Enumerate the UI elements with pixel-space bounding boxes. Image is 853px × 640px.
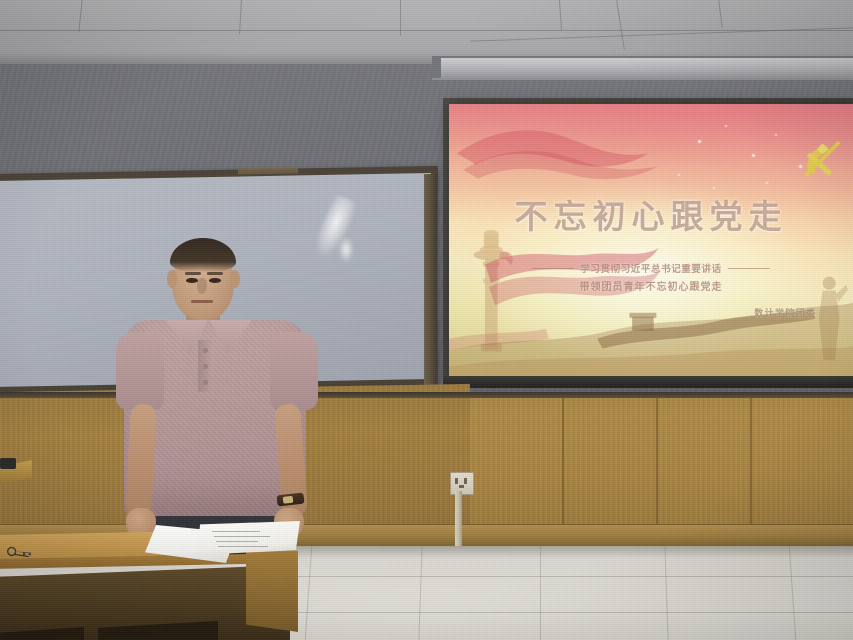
desk-side-object-dark bbox=[0, 458, 16, 469]
slide-credit: 数计学院团委 bbox=[754, 306, 816, 319]
projector-screen-housing-end bbox=[432, 56, 441, 78]
whiteboard-glare-secondary bbox=[338, 236, 354, 262]
cable-conduit bbox=[455, 491, 462, 547]
projection-screen-bottom-bar bbox=[443, 376, 853, 388]
sleeve-right bbox=[270, 332, 318, 410]
keys-icon bbox=[6, 545, 40, 559]
whiteboard-marker-tray bbox=[238, 166, 298, 174]
red-silk-ribbon-icon bbox=[457, 123, 667, 195]
projection-screen: 不忘初心跟党走 学习贯彻习近平总书记重要讲话 带领团员青年不忘初心跟党走 数计学… bbox=[449, 104, 853, 380]
presenter-person bbox=[118, 236, 318, 556]
slide-subtitle-line-1: 学习贯彻习近平总书记重要讲话 bbox=[580, 261, 721, 275]
subtitle-rule-left bbox=[532, 268, 574, 269]
subtitle-rule-right bbox=[728, 268, 770, 269]
ear-left bbox=[167, 270, 177, 288]
power-outlet-icon bbox=[450, 472, 474, 495]
podium-shelf-right bbox=[98, 621, 218, 640]
sleeve-left bbox=[116, 332, 164, 410]
nose bbox=[197, 278, 207, 294]
slide-title: 不忘初心跟党走 bbox=[449, 190, 853, 238]
slide-subtitle-line-2: 带领团员青年不忘初心跟党走 bbox=[449, 278, 853, 293]
great-wall-illustration bbox=[449, 281, 853, 380]
classroom-photo: 不忘初心跟党走 学习贯彻习近平总书记重要讲话 带领团员青年不忘初心跟党走 数计学… bbox=[0, 0, 853, 640]
presentation-slide: 不忘初心跟党走 学习贯彻习近平总书记重要讲话 带领团员青年不忘初心跟党走 数计学… bbox=[449, 104, 853, 380]
whiteboard-right-post bbox=[424, 174, 437, 396]
podium-side-panel bbox=[246, 540, 298, 632]
ear-right bbox=[230, 270, 240, 288]
slide-subtitle-block: 学习贯彻习近平总书记重要讲话 带领团员青年不忘初心跟党走 bbox=[449, 261, 853, 293]
podium-shelf-left bbox=[0, 627, 84, 640]
hammer-sickle-emblem-icon bbox=[796, 126, 849, 192]
mouth bbox=[191, 300, 213, 303]
hair bbox=[170, 238, 236, 272]
slide-subtitle-line-1-row: 学习贯彻习近平总书记重要讲话 bbox=[449, 261, 853, 275]
projector-screen-housing bbox=[432, 56, 853, 80]
paper-sheet-right bbox=[196, 521, 300, 555]
